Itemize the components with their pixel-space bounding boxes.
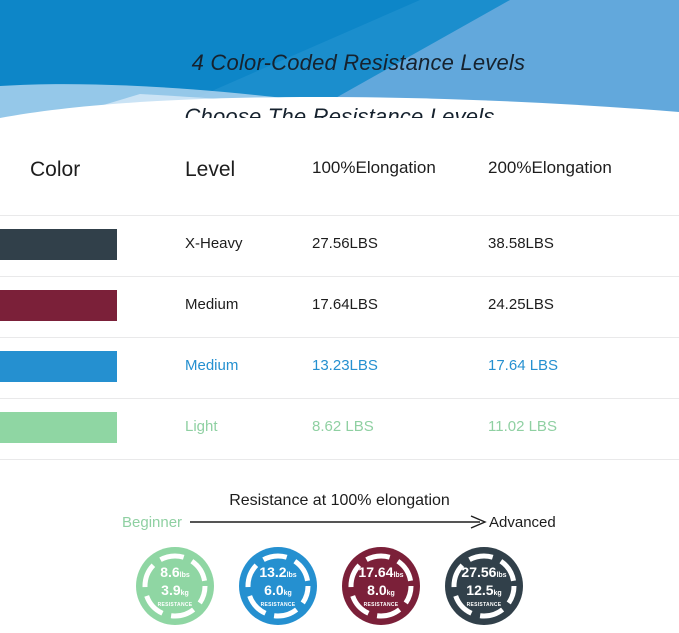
cell-level: Medium — [185, 357, 238, 374]
color-swatch — [0, 290, 117, 321]
table-divider — [0, 459, 679, 460]
column-header-color: Color — [30, 158, 80, 182]
badge-ring-icon — [135, 546, 215, 626]
color-swatch — [0, 412, 117, 443]
page-title: 4 Color-Coded Resistance Levels Choose T… — [0, 22, 679, 118]
badge-ring-icon — [444, 546, 524, 626]
resistance-badge: 27.56lbs 12.5kg RESISTANCE — [444, 546, 524, 626]
table-row: Light 8.62 LBS 11.02 LBS — [0, 399, 679, 459]
resistance-scale: Resistance at 100% elongation Beginner A… — [0, 492, 679, 542]
page-title-line-1: 4 Color-Coded Resistance Levels — [192, 50, 526, 75]
badge-ring-icon — [341, 546, 421, 626]
cell-100-elongation: 27.56LBS — [312, 235, 378, 252]
scale-label-beginner: Beginner — [122, 514, 182, 531]
cell-200-elongation: 11.02 LBS — [488, 418, 557, 435]
table-row: X-Heavy 27.56LBS 38.58LBS — [0, 216, 679, 276]
color-swatch — [0, 229, 117, 260]
column-header-100-elongation: 100%Elongation — [312, 158, 436, 178]
table-row: Medium 13.23LBS 17.64 LBS — [0, 338, 679, 398]
cell-level: Medium — [185, 296, 238, 313]
resistance-badge: 13.2lbs 6.0kg RESISTANCE — [238, 546, 318, 626]
cell-level: X-Heavy — [185, 235, 243, 252]
cell-100-elongation: 17.64LBS — [312, 296, 378, 313]
cell-level: Light — [185, 418, 218, 435]
scale-title: Resistance at 100% elongation — [0, 492, 679, 510]
resistance-levels-infographic: 4 Color-Coded Resistance Levels Choose T… — [0, 0, 679, 633]
cell-100-elongation: 8.62 LBS — [312, 418, 374, 435]
column-header-level: Level — [185, 158, 235, 182]
scale-label-advanced: Advanced — [489, 514, 556, 531]
page-title-line-2: Choose The Resistance Levels — [0, 103, 679, 118]
resistance-badge: 8.6lbs 3.9kg RESISTANCE — [135, 546, 215, 626]
resistance-table: Color Level 100%Elongation 200%Elongatio… — [0, 118, 679, 460]
resistance-badges: 8.6lbs 3.9kg RESISTANCE 13.2lbs 6.0kg RE… — [0, 546, 679, 633]
column-header-200-elongation: 200%Elongation — [488, 158, 612, 178]
cell-200-elongation: 38.58LBS — [488, 235, 554, 252]
table-header-row: Color Level 100%Elongation 200%Elongatio… — [0, 118, 679, 215]
cell-200-elongation: 24.25LBS — [488, 296, 554, 313]
header-banner: 4 Color-Coded Resistance Levels Choose T… — [0, 0, 679, 118]
resistance-badge: 17.64lbs 8.0kg RESISTANCE — [341, 546, 421, 626]
right-arrow-icon — [190, 515, 490, 529]
cell-100-elongation: 13.23LBS — [312, 357, 378, 374]
cell-200-elongation: 17.64 LBS — [488, 357, 558, 374]
table-row: Medium 17.64LBS 24.25LBS — [0, 277, 679, 337]
color-swatch — [0, 351, 117, 382]
badge-ring-icon — [238, 546, 318, 626]
